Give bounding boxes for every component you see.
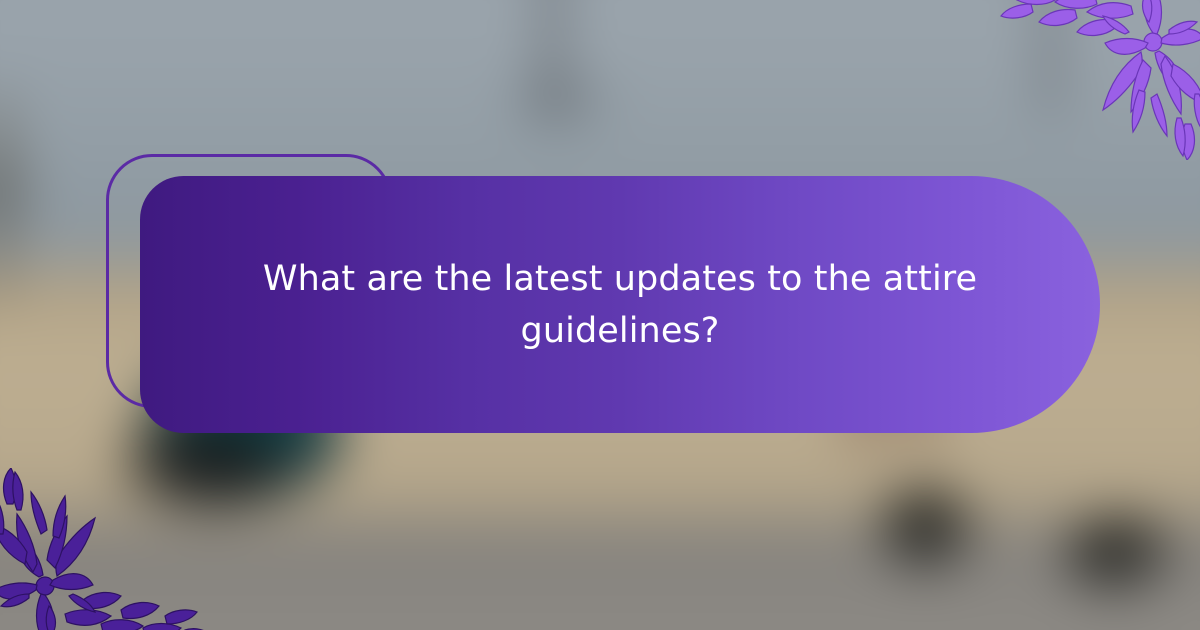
background-net-post xyxy=(1035,0,1065,115)
background-foreground-band xyxy=(0,495,1200,630)
background-ball xyxy=(1065,515,1175,595)
question-card: What are the latest updates to the attir… xyxy=(140,176,1100,433)
background-player-shadow xyxy=(115,420,300,515)
background-ball xyxy=(875,485,975,573)
question-text: What are the latest updates to the attir… xyxy=(240,254,1000,356)
background-net-shadow xyxy=(500,70,620,130)
social-card-canvas: What are the latest updates to the attir… xyxy=(0,0,1200,630)
